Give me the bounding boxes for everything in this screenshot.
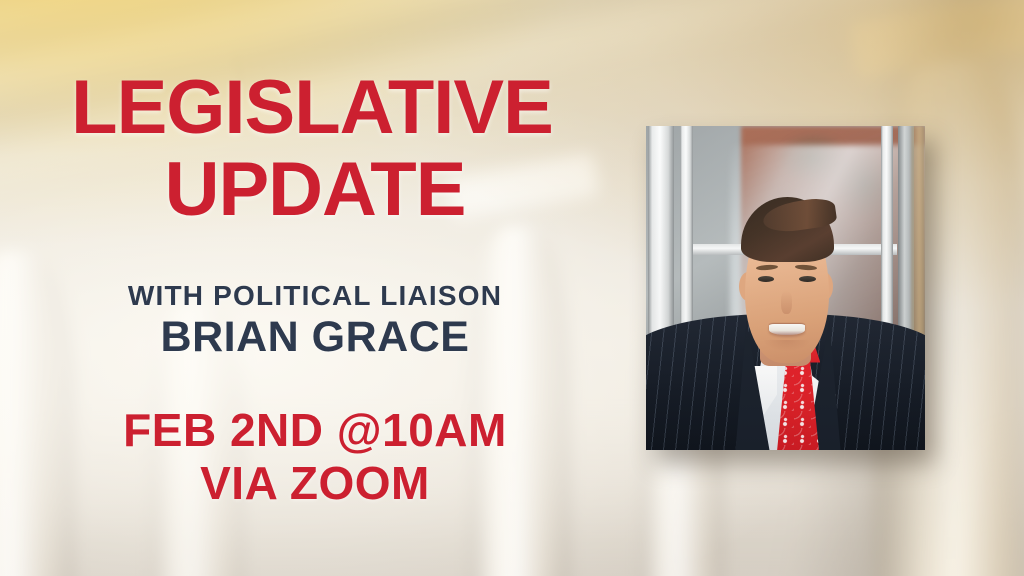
flyer-subtitle-prefix: WITH POLITICAL LIAISON [10,282,620,310]
speaker-photo [646,126,925,450]
flyer-speaker-name: BRIAN GRACE [10,316,620,359]
flyer-title-line-2: UPDATE [10,152,620,228]
nose [781,291,792,314]
legislative-update-flyer: LEGISLATIVE UPDATE WITH POLITICAL LIAISO… [0,0,1024,576]
flyer-platform: VIA ZOOM [10,460,620,506]
speaker-figure [646,126,925,450]
flyer-datetime: FEB 2ND @10AM [10,407,620,453]
smiling-mouth [769,324,805,335]
chin-shading [763,340,810,356]
speaker-photo-content [646,126,925,450]
flyer-title-line-1: LEGISLATIVE [4,70,620,146]
flyer-text-block: LEGISLATIVE UPDATE WITH POLITICAL LIAISO… [0,0,620,576]
